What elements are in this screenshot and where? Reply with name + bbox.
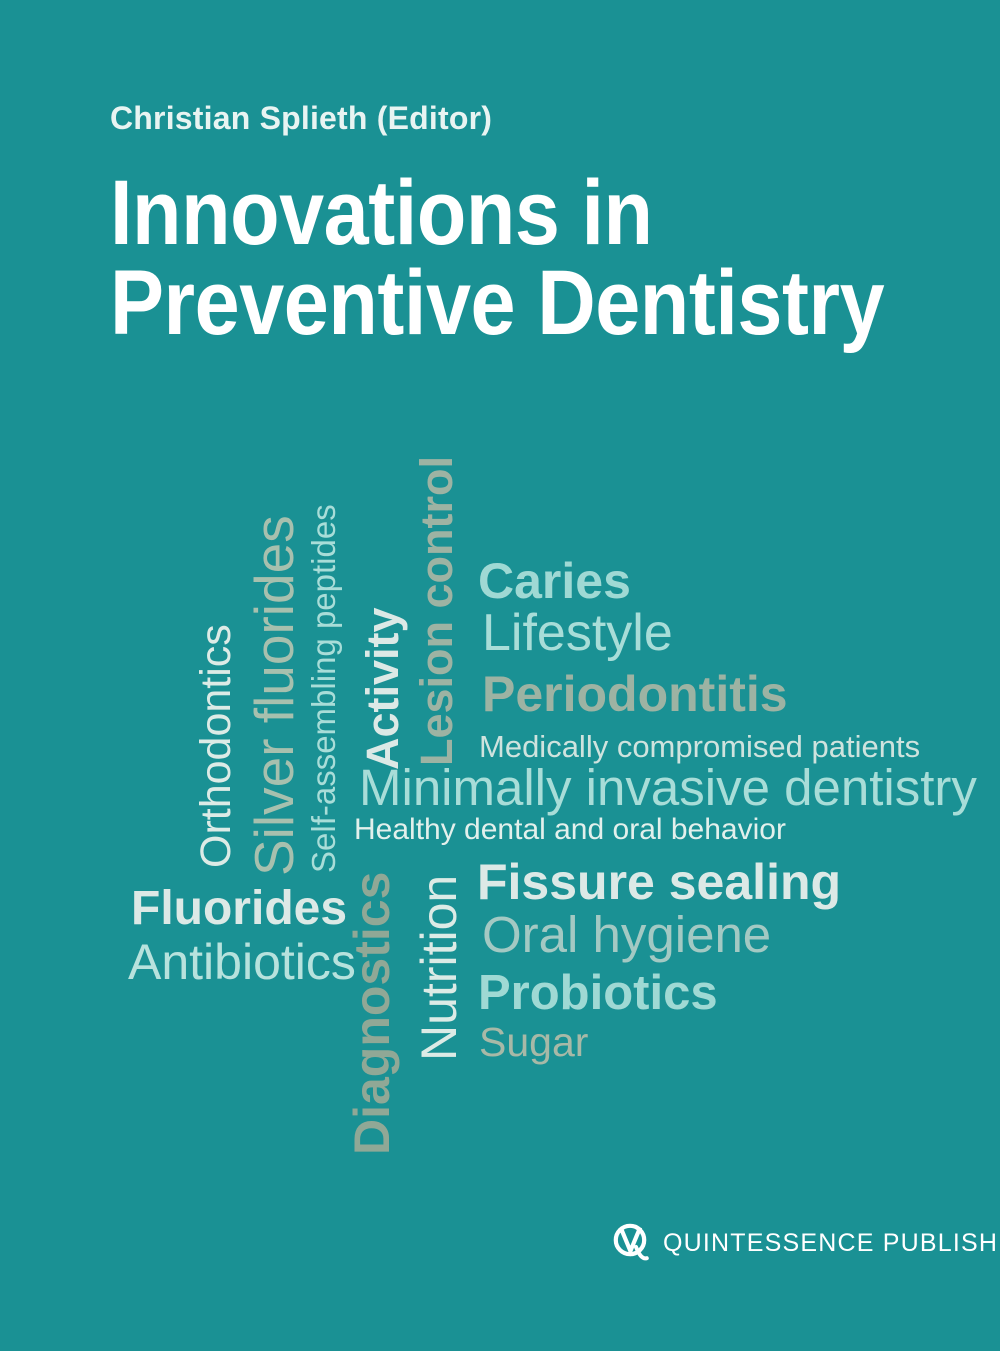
- wordcloud-word: Lesion control: [414, 456, 459, 766]
- wordcloud-word: Medically compromised patients: [479, 731, 920, 762]
- wordcloud-word: Minimally invasive dentistry: [359, 762, 977, 813]
- wordcloud-word: Orthodontics: [195, 624, 238, 868]
- wordcloud-word: Diagnostics: [347, 872, 397, 1155]
- wordcloud-word: Fissure sealing: [477, 857, 841, 907]
- wordcloud-word: Self-assembling peptides: [307, 504, 340, 873]
- wordcloud-word: Activity: [360, 607, 405, 770]
- publisher-name: QUINTESSENCE PUBLISHING: [663, 1229, 1000, 1258]
- wordcloud-word: Silver fluorides: [247, 515, 302, 876]
- wordcloud-word: Antibiotics: [128, 937, 356, 987]
- wordcloud-word: Fluorides: [131, 885, 347, 933]
- wordcloud-word: Healthy dental and oral behavior: [354, 815, 786, 845]
- wordcloud-word: Caries: [478, 556, 631, 606]
- wordcloud-word: Periodontitis: [482, 669, 788, 719]
- wordcloud-word: Nutrition: [414, 875, 464, 1061]
- wordcloud-word: Sugar: [479, 1022, 588, 1063]
- book-cover: Christian Splieth (Editor) Innovations i…: [0, 0, 1000, 1351]
- quintessence-q-mark: [612, 1222, 652, 1264]
- wordcloud-word: Oral hygiene: [482, 909, 771, 960]
- wordcloud-word: Probiotics: [478, 969, 718, 1018]
- publisher-logo: QUINTESSENCE PUBLISHING: [612, 1222, 1000, 1264]
- wordcloud-word: Lifestyle: [482, 607, 673, 659]
- topic-word-cloud: OrthodonticsSilver fluoridesSelf-assembl…: [0, 0, 1000, 1351]
